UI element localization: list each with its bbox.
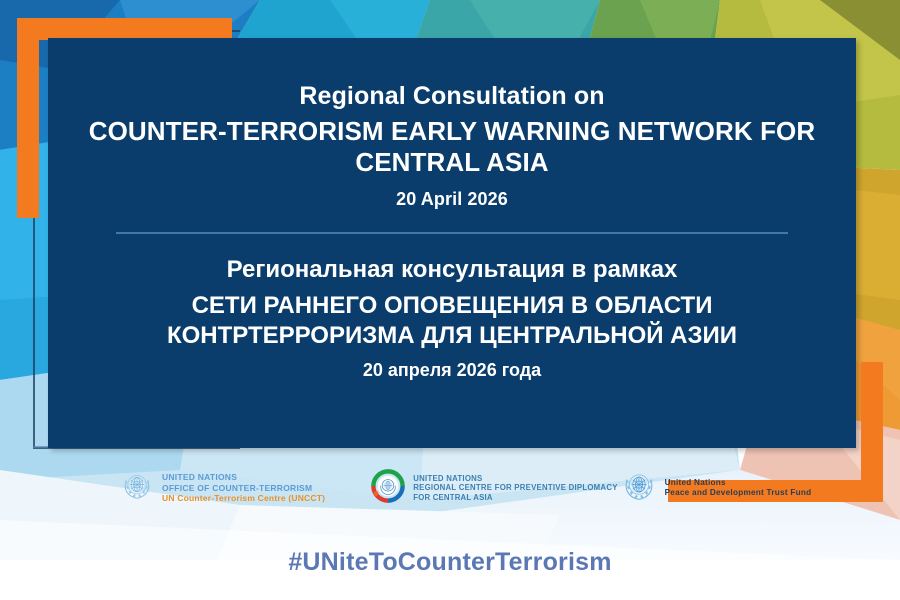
logo-pdtf-text: United Nations Peace and Development Tru…	[665, 478, 812, 498]
logo-line1: United Nations	[665, 478, 812, 488]
logo-line1: UNITED NATIONS	[162, 472, 325, 482]
unrcca-ring-emblem-icon	[371, 469, 405, 508]
logo-line2: Peace and Development Trust Fund	[665, 488, 812, 498]
russian-title-line2: СЕТИ РАННЕГО ОПОВЕЩЕНИЯ В ОБЛАСТИ КОНТРТ…	[74, 291, 830, 351]
english-title-line2: COUNTER-TERRORISM EARLY WARNING NETWORK …	[74, 116, 830, 179]
panel-divider	[116, 232, 788, 234]
logo-unrcca: UNITED NATIONS REGIONAL CENTRE FOR PREVE…	[371, 469, 620, 508]
bracket-arm-horizontal	[17, 18, 232, 40]
english-title-block: Regional Consultation on COUNTER-TERRORI…	[74, 82, 830, 210]
poster-canvas: Regional Consultation on COUNTER-TERRORI…	[0, 0, 900, 600]
english-title-line1: Regional Consultation on	[74, 82, 830, 112]
logo-strip: UNITED NATIONS OFFICE OF COUNTER-TERRORI…	[120, 462, 820, 514]
english-date: 20 April 2026	[74, 189, 830, 210]
logo-unoct-text: UNITED NATIONS OFFICE OF COUNTER-TERRORI…	[162, 472, 325, 503]
logo-line1: UNITED NATIONS	[413, 474, 617, 484]
logo-line2: OFFICE OF COUNTER-TERRORISM	[162, 483, 325, 493]
un-emblem-icon	[621, 468, 657, 509]
logo-line2: REGIONAL CENTRE FOR PREVENTIVE DIPLOMACY	[413, 483, 617, 493]
logo-unrcca-text: UNITED NATIONS REGIONAL CENTRE FOR PREVE…	[413, 474, 617, 503]
logo-unoct: UNITED NATIONS OFFICE OF COUNTER-TERRORI…	[120, 469, 371, 508]
logo-line3: UN Counter-Terrorism Centre (UNCCT)	[162, 493, 325, 503]
logo-line3: FOR CENTRAL ASIA	[413, 493, 617, 503]
bracket-arm-vertical	[861, 362, 883, 502]
russian-title-line1: Региональная консультация в рамках	[74, 256, 830, 285]
un-emblem-icon	[120, 469, 154, 508]
logo-peace-development-trust-fund: United Nations Peace and Development Tru…	[621, 468, 820, 509]
bracket-arm-vertical	[17, 18, 39, 218]
campaign-hashtag: #UNiteToCounterTerrorism	[0, 548, 900, 577]
